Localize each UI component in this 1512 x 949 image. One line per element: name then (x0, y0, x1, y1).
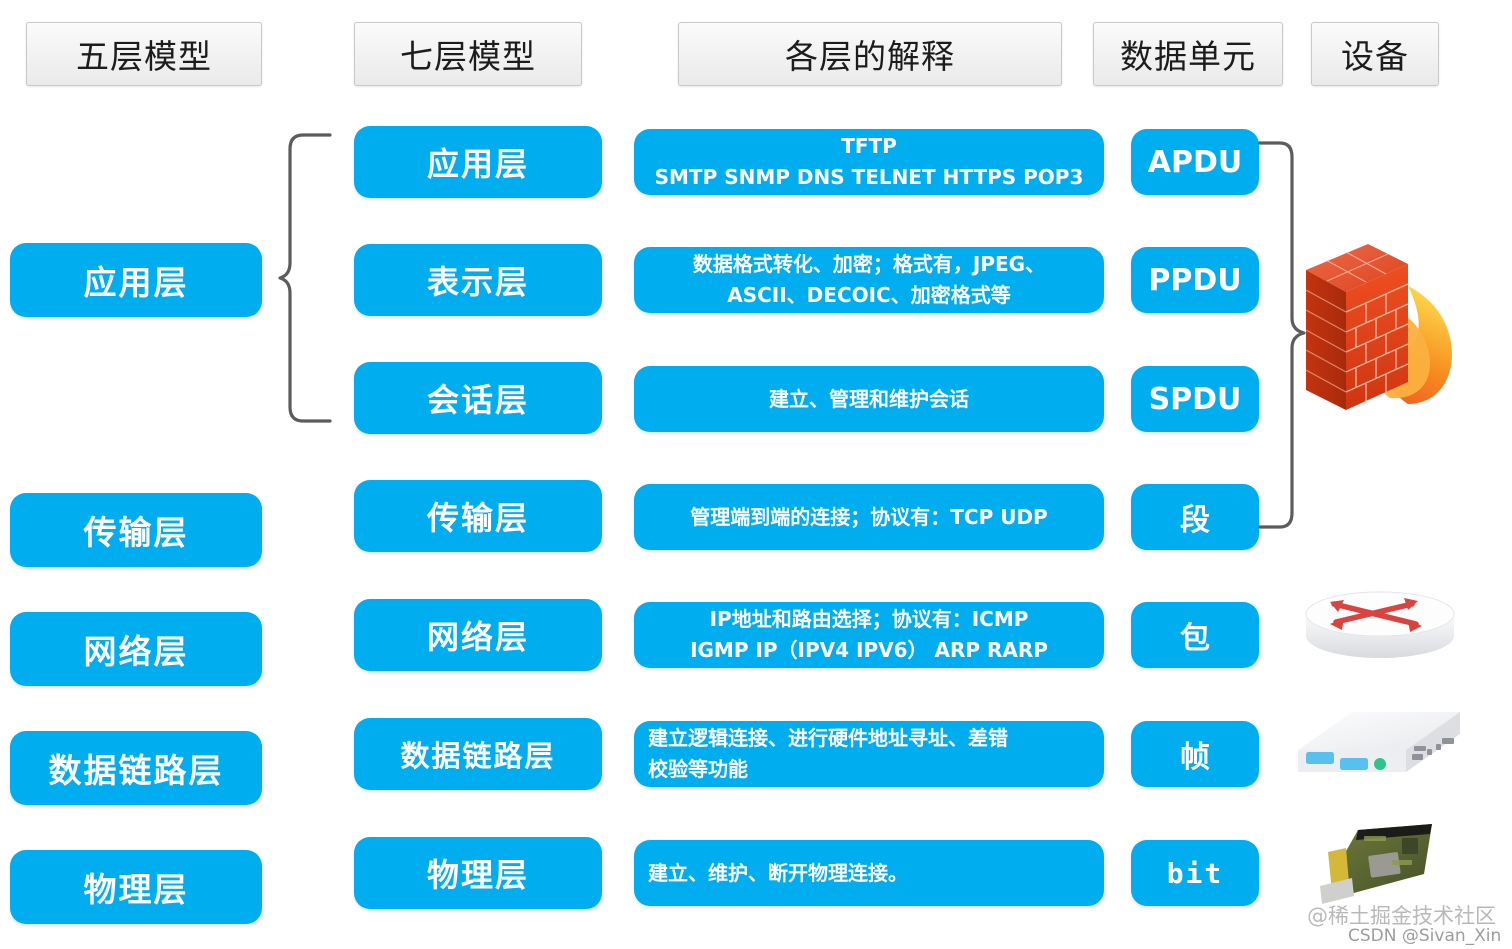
data-unit-segment[interactable]: 段 (1131, 484, 1259, 550)
left-grouping-brace (278, 132, 332, 424)
column-header-seven-layer-model: 七层模型 (354, 22, 582, 86)
seven-layer-label: 表示层 (427, 257, 529, 303)
explanation-line: 数据格式转化、加密；格式有，JPEG、 (648, 249, 1090, 280)
five-layer-item-transport[interactable]: 传输层 (10, 493, 262, 567)
data-unit-bit[interactable]: bit (1131, 840, 1259, 906)
explanation-line: 为应用程序提供服务；协议有：HTTP FTP TFTP (648, 100, 1090, 162)
seven-layer-item-presentation[interactable]: 表示层 (354, 244, 602, 316)
seven-layer-item-physical[interactable]: 物理层 (354, 837, 602, 909)
data-unit-label: APDU (1148, 145, 1242, 180)
five-layer-label: 数据链路层 (49, 744, 224, 792)
explanation-network: IP地址和路由选择；协议有：ICMP IGMP IP（IPV4 IPV6） AR… (634, 602, 1104, 668)
column-header-device: 设备 (1311, 22, 1439, 86)
explanation-line: ASCII、DECOIC、加密格式等 (648, 280, 1090, 311)
explanation-line: 建立、管理和维护会话 (648, 384, 1090, 415)
router-icon (1300, 584, 1460, 666)
column-header-data-unit: 数据单元 (1093, 22, 1283, 86)
column-header-five-layer-model: 五层模型 (26, 22, 262, 86)
data-unit-packet[interactable]: 包 (1131, 602, 1259, 668)
switch-led-port (1340, 758, 1368, 770)
explanation-line: 建立逻辑连接、进行硬件地址寻址、差错 (648, 723, 1090, 754)
explanation-line: IP地址和路由选择；协议有：ICMP (648, 604, 1090, 635)
column-header-label: 七层模型 (400, 30, 536, 78)
seven-layer-item-network[interactable]: 网络层 (354, 599, 602, 671)
seven-layer-item-session[interactable]: 会话层 (354, 362, 602, 434)
explanation-presentation: 数据格式转化、加密；格式有，JPEG、 ASCII、DECOIC、加密格式等 (634, 247, 1104, 313)
five-layer-item-network[interactable]: 网络层 (10, 612, 262, 686)
data-unit-label: 帧 (1180, 732, 1210, 776)
column-header-layer-explanations: 各层的解释 (678, 22, 1062, 86)
five-layer-item-application[interactable]: 应用层 (10, 243, 262, 317)
five-layer-label: 传输层 (84, 506, 189, 554)
explanation-line: 校验等功能 (648, 754, 1090, 785)
five-layer-label: 应用层 (84, 256, 189, 304)
data-unit-label: SPDU (1149, 382, 1242, 417)
explanation-line: SMTP SNMP DNS TELNET HTTPS POP3 DHCP (648, 162, 1090, 224)
brick-wall-shape (1306, 244, 1408, 410)
data-unit-label: bit (1167, 857, 1224, 890)
data-unit-label: 包 (1180, 613, 1210, 657)
five-layer-item-data-link[interactable]: 数据链路层 (10, 731, 262, 805)
firewall-icon (1296, 222, 1476, 422)
nic-chip (1402, 838, 1418, 854)
seven-layer-label: 应用层 (427, 139, 529, 185)
seven-layer-label: 传输层 (427, 493, 529, 539)
switch-icon (1294, 706, 1464, 798)
explanation-session: 建立、管理和维护会话 (634, 366, 1104, 432)
seven-layer-label: 物理层 (427, 850, 529, 896)
data-unit-ppdu[interactable]: PPDU (1131, 247, 1259, 313)
seven-layer-item-transport[interactable]: 传输层 (354, 480, 602, 552)
explanation-line: 管理端到端的连接；协议有：TCP UDP (648, 502, 1090, 533)
switch-led-port (1306, 752, 1334, 764)
explanation-application: 为应用程序提供服务；协议有：HTTP FTP TFTP SMTP SNMP DN… (634, 129, 1104, 195)
data-unit-apdu[interactable]: APDU (1131, 129, 1259, 195)
explanation-transport: 管理端到端的连接；协议有：TCP UDP (634, 484, 1104, 550)
five-layer-label: 网络层 (84, 625, 189, 673)
switch-power-led (1374, 758, 1386, 770)
data-unit-label: PPDU (1148, 263, 1241, 298)
seven-layer-label: 网络层 (427, 612, 529, 658)
data-unit-frame[interactable]: 帧 (1131, 721, 1259, 787)
column-header-label: 数据单元 (1120, 30, 1256, 78)
osi-model-diagram: 五层模型 七层模型 各层的解释 数据单元 设备 应用层 传输层 网络层 数据链路… (0, 0, 1512, 949)
explanation-line: 建立、维护、断开物理连接。 (648, 858, 1090, 889)
watermark-author: CSDN @Sivan_Xin (1348, 926, 1501, 946)
five-layer-label: 物理层 (84, 863, 189, 911)
data-unit-spdu[interactable]: SPDU (1131, 366, 1259, 432)
data-unit-label: 段 (1180, 495, 1210, 539)
explanation-data-link: 建立逻辑连接、进行硬件地址寻址、差错 校验等功能 (634, 721, 1104, 787)
seven-layer-item-data-link[interactable]: 数据链路层 (354, 718, 602, 790)
explanation-physical: 建立、维护、断开物理连接。 (634, 840, 1104, 906)
seven-layer-item-application[interactable]: 应用层 (354, 126, 602, 198)
column-header-label: 五层模型 (76, 30, 212, 78)
seven-layer-label: 数据链路层 (400, 733, 555, 775)
five-layer-item-physical[interactable]: 物理层 (10, 850, 262, 924)
column-header-label: 各层的解释 (785, 30, 955, 78)
column-header-label: 设备 (1341, 30, 1409, 78)
seven-layer-label: 会话层 (427, 375, 529, 421)
explanation-line: IGMP IP（IPV4 IPV6） ARP RARP (648, 635, 1090, 666)
